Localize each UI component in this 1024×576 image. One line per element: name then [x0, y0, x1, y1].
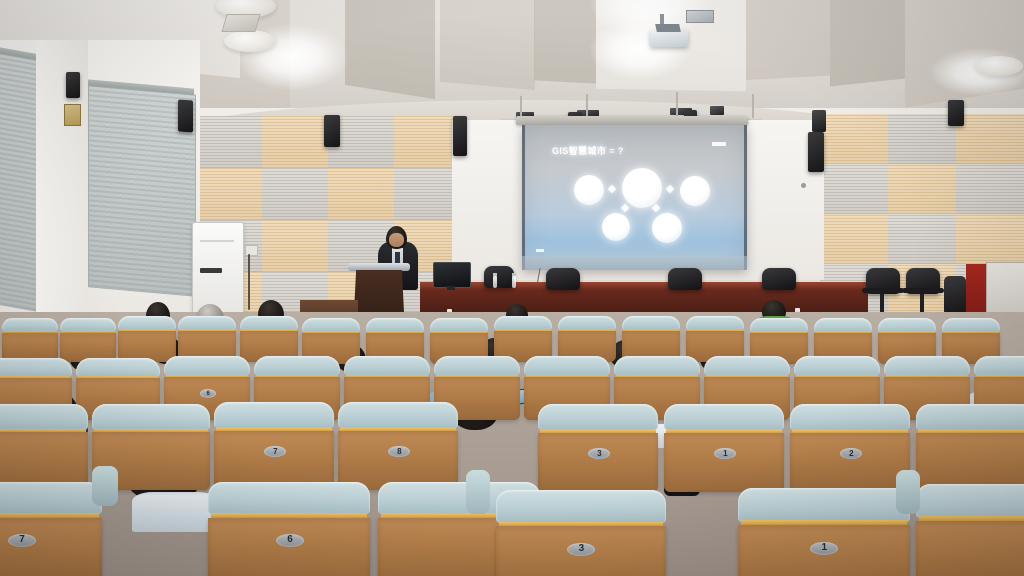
stage-chair-far-right[interactable] — [944, 276, 966, 316]
seat-rail — [538, 404, 658, 430]
slide-title: GIS智慧城市 = ? — [552, 144, 624, 157]
podium-top-surface — [348, 263, 410, 271]
stage-chair-6-arm — [902, 288, 944, 293]
seat-far-2[interactable] — [60, 318, 116, 362]
wall-alarm-box — [64, 104, 81, 126]
water-bottle-2 — [512, 276, 516, 288]
slide-bubble-3 — [680, 176, 710, 206]
seat-rail — [686, 316, 744, 330]
ceiling-beam-1 — [345, 0, 435, 99]
slide-bubble-2 — [622, 168, 662, 208]
hanger-rod-1 — [520, 96, 522, 118]
seat-rail — [738, 488, 910, 522]
water-bottle-1 — [493, 276, 497, 288]
seat-near-1[interactable] — [0, 404, 88, 490]
screen-case — [516, 116, 748, 125]
seat-rail — [338, 402, 458, 428]
seat-rail — [750, 318, 808, 332]
seat-rail — [494, 316, 552, 330]
wall-speaker-left-2 — [178, 99, 193, 132]
seat-rail — [254, 356, 340, 375]
seat-back — [538, 433, 658, 492]
water-bottle-1-cap — [493, 273, 497, 276]
presenter-face — [389, 233, 404, 247]
seat-rail — [614, 356, 700, 375]
seat-back — [664, 433, 784, 492]
lecture-hall-photo: GIS智慧城市 = ? — [0, 0, 1024, 576]
wall-outlet — [245, 245, 258, 256]
seat-rail — [214, 402, 334, 428]
seat-front-2[interactable]: 6 — [208, 482, 370, 576]
seat-rail — [664, 404, 784, 430]
wall-speaker-screen-left — [453, 116, 467, 156]
slide-diamond-4 — [652, 204, 660, 212]
seat-near-5[interactable]: 3 — [538, 404, 658, 492]
wall-sensor-dot — [801, 183, 806, 188]
seat-rail — [60, 318, 116, 331]
seat-rail — [366, 318, 424, 332]
seat-rail — [884, 356, 970, 375]
window-blind-2 — [0, 52, 38, 312]
seat-front-6[interactable] — [916, 484, 1024, 576]
seat-number-plate: 1 — [810, 542, 838, 555]
seat-front-5[interactable]: 1 — [738, 488, 910, 576]
seat-number-plate: 7 — [8, 534, 36, 547]
seat-back — [0, 518, 102, 576]
seat-front-4[interactable]: 3 — [496, 490, 666, 576]
seat-rail — [240, 316, 298, 330]
slide-cursor-mark — [536, 249, 544, 252]
stage-chair-4[interactable] — [762, 268, 796, 290]
seat-front-1[interactable]: 7 — [0, 482, 102, 576]
ceiling-beam-3 — [534, 0, 596, 84]
seat-rail — [92, 404, 210, 430]
stage-chair-2[interactable] — [546, 268, 580, 290]
seat-number-plate: 6 — [276, 534, 304, 547]
seat-number-plate: 3 — [567, 543, 595, 556]
ceiling-air-vent — [221, 14, 260, 32]
seat-rail — [0, 404, 88, 430]
seat-armrest-center — [466, 470, 490, 514]
seat-rail — [76, 358, 160, 377]
ac-display-panel — [200, 268, 222, 273]
seat-rail — [794, 356, 880, 375]
slide-bubble-5 — [652, 213, 682, 243]
seat-rail — [302, 318, 360, 332]
seat-rail — [916, 484, 1024, 518]
seat-rail — [496, 490, 666, 523]
seat-near-7[interactable]: 2 — [790, 404, 910, 492]
seat-back — [916, 521, 1024, 576]
stage-chair-1[interactable] — [484, 266, 514, 288]
ceiling-beam-2 — [440, 0, 535, 90]
ac-power-cable — [248, 254, 250, 310]
seat-rail — [704, 356, 790, 375]
stage-chair-3[interactable] — [668, 268, 702, 290]
wall-speaker-far-right — [948, 100, 964, 126]
seat-near-4[interactable]: 8 — [338, 402, 458, 490]
seat-rail — [430, 318, 488, 332]
seat-rail — [814, 318, 872, 332]
slide-bubble-4 — [602, 213, 630, 241]
seat-rail — [118, 316, 176, 330]
stage-monitor-stand — [447, 286, 455, 290]
slide-bubble-1 — [574, 175, 604, 205]
seat-armrest-right — [896, 470, 920, 514]
seat-rail — [790, 404, 910, 430]
audience-foreground-left-shirt — [132, 492, 218, 532]
wall-speaker-right-1 — [808, 132, 824, 172]
projection-screen[interactable]: GIS智慧城市 = ? — [522, 125, 747, 270]
seat-rail — [878, 318, 936, 332]
seat-rail — [2, 318, 58, 331]
hanger-rod-2 — [586, 94, 588, 118]
ceiling-disc-light-2 — [224, 30, 276, 52]
track-fixture-3 — [710, 106, 724, 115]
slide-diamond-2 — [666, 185, 674, 193]
seat-rail — [974, 356, 1024, 375]
seat-rail — [916, 404, 1024, 430]
water-bottle-2-cap — [512, 273, 516, 276]
seat-back — [790, 433, 910, 492]
wall-speaker-left-1 — [66, 72, 80, 98]
seat-armrest-left — [92, 466, 118, 506]
stage-monitor — [433, 262, 471, 288]
seat-rail — [178, 316, 236, 330]
seat-rail — [0, 358, 72, 377]
projector-ceiling-plate — [686, 10, 714, 23]
wall-pillar-left — [36, 40, 88, 318]
ac-vent-line — [200, 240, 234, 242]
wall-speaker-right-2 — [812, 110, 826, 132]
seat-near-6[interactable]: 1 — [664, 404, 784, 492]
seat-rail — [344, 356, 430, 375]
slide-corner-badge — [712, 142, 726, 146]
seat-rail — [622, 316, 680, 330]
seat-rail — [434, 356, 520, 375]
stage-chair-5-arm — [862, 288, 904, 293]
seat-rail — [0, 482, 102, 514]
seat-rail — [942, 318, 1000, 332]
ceiling-beam-5 — [830, 0, 915, 86]
ceiling-beam-4 — [740, 0, 830, 80]
wall-speaker-stage-left — [324, 115, 340, 147]
seat-near-8[interactable] — [916, 404, 1024, 492]
ceiling-disc-light-3 — [975, 56, 1023, 76]
projector-bracket — [655, 24, 681, 32]
hanger-rod-4 — [752, 94, 754, 118]
seat-rail — [558, 316, 616, 330]
slide-diamond-3 — [621, 204, 629, 212]
seat-rail — [164, 356, 250, 375]
seat-rail — [208, 482, 370, 514]
seat-rail — [524, 356, 610, 375]
hanger-rod-3 — [676, 92, 678, 116]
seat-far-1[interactable] — [2, 318, 58, 362]
slide-diamond-1 — [608, 185, 616, 193]
seat-near-3[interactable]: 7 — [214, 402, 334, 490]
ceiling-projector — [650, 30, 688, 47]
